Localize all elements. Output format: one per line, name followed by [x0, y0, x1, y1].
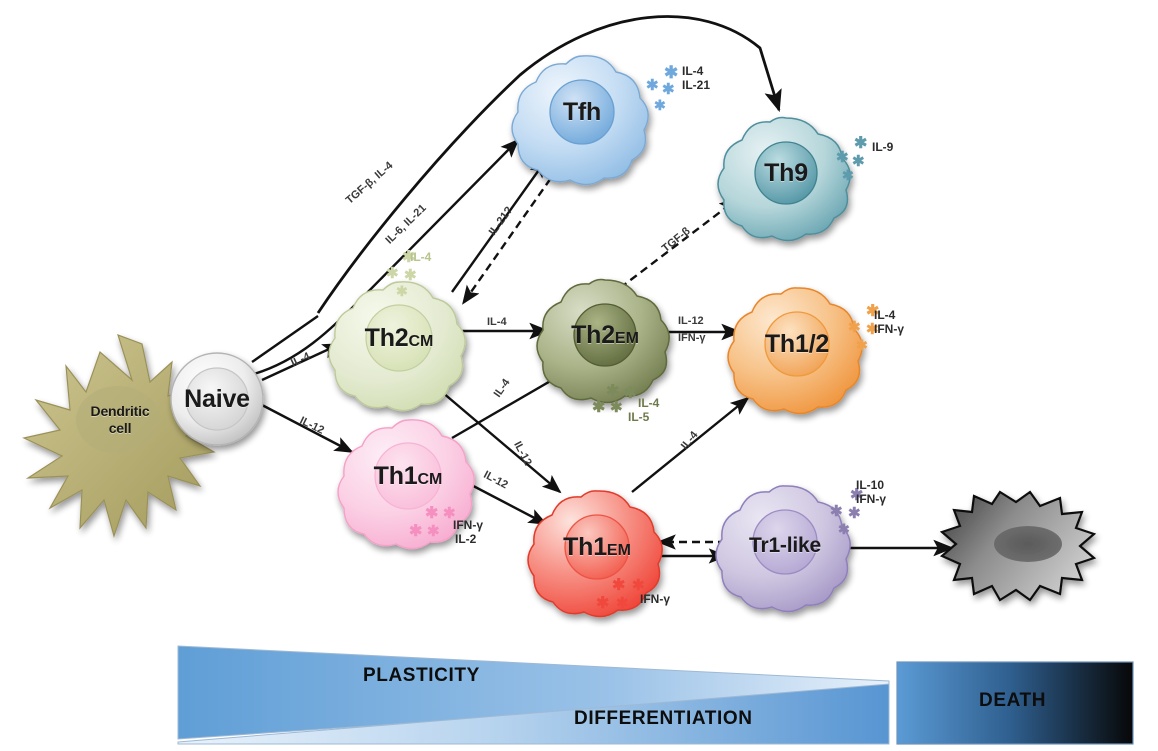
cell-th1cm-label: Th1	[374, 462, 418, 490]
edge-label-th2em-th12: IL-12 IFN-γ IL-12 IFN-γ	[678, 313, 706, 347]
cell-naive-label: Naive	[184, 385, 250, 414]
cell-th2cm-sub: CM	[408, 333, 433, 350]
cell-tfh-label: Tfh	[563, 98, 601, 127]
edge-label-ifng-a: IFN-γ	[678, 330, 706, 347]
cytokine-label-th12: IL-4 IFN-γ	[874, 308, 904, 336]
cytokine-label-th1cm: IFN-γ IL-2	[453, 518, 483, 546]
cytokine-label-th2em: IL-4 IL-5	[638, 396, 659, 424]
cytokine-label-th9: IL-9	[872, 140, 893, 154]
cell-th2em-label: Th2	[571, 321, 615, 349]
death-label: DEATH	[979, 690, 1046, 712]
cytokine-th9-line1: IL-9	[872, 140, 893, 154]
cytokine-label-tfh: IL-4 IL-21	[682, 64, 710, 92]
cytokine-th1em-line1: IFN-γ	[640, 592, 670, 606]
cell-dendritic-label-line2: cell	[91, 420, 150, 438]
cytokine-th1cm-line2: IL-2	[455, 532, 483, 546]
cytokine-label-th1em: IFN-γ	[640, 592, 670, 606]
cytokine-th1cm-line1: IFN-γ	[453, 518, 483, 532]
cytokine-label-tr1: IL-10 IFN-γ	[856, 478, 886, 506]
cytokine-tr1-line2: IFN-γ	[856, 492, 886, 506]
cell-tr1-like-label: Tr1-like	[749, 534, 821, 558]
cell-th2em-sub: EM	[615, 330, 639, 347]
cytokine-tfh-line1: IL-4	[682, 64, 710, 78]
cell-th9-label: Th9	[764, 159, 808, 188]
cytokine-label-th2cm: IL-4	[410, 250, 431, 264]
edge-label-il12-a: IL-12	[678, 313, 706, 330]
cytokine-th2cm-line1: IL-4	[410, 250, 431, 264]
cell-th2cm-label: Th2	[365, 324, 409, 352]
cytokine-th12-line1: IL-4	[874, 308, 904, 322]
cell-th12-label: Th1/2	[765, 330, 829, 359]
cell-th1cm-sub: CM	[417, 471, 442, 488]
cytokine-th2em-line2: IL-5	[628, 410, 659, 424]
cytokine-th12-line2: IFN-γ	[874, 322, 904, 336]
cell-dendritic-label-line1: Dendritic	[91, 403, 150, 421]
cytokine-tfh-line2: IL-21	[682, 78, 710, 92]
cell-th1em-label: Th1	[563, 533, 607, 561]
cell-th1em-sub: EM	[607, 542, 631, 559]
differentiation-label: DIFFERENTIATION	[574, 708, 753, 730]
cytokine-tr1-line1: IL-10	[856, 478, 886, 492]
plasticity-label: PLASTICITY	[363, 665, 480, 687]
edge-label-th2cm-th2em-il4: IL-4	[487, 316, 507, 329]
cytokine-th2em-line1: IL-4	[638, 396, 659, 410]
diagram-canvas: Dendritic cell Naive Tfh Th9 Th2CM Th2EM…	[0, 0, 1158, 751]
